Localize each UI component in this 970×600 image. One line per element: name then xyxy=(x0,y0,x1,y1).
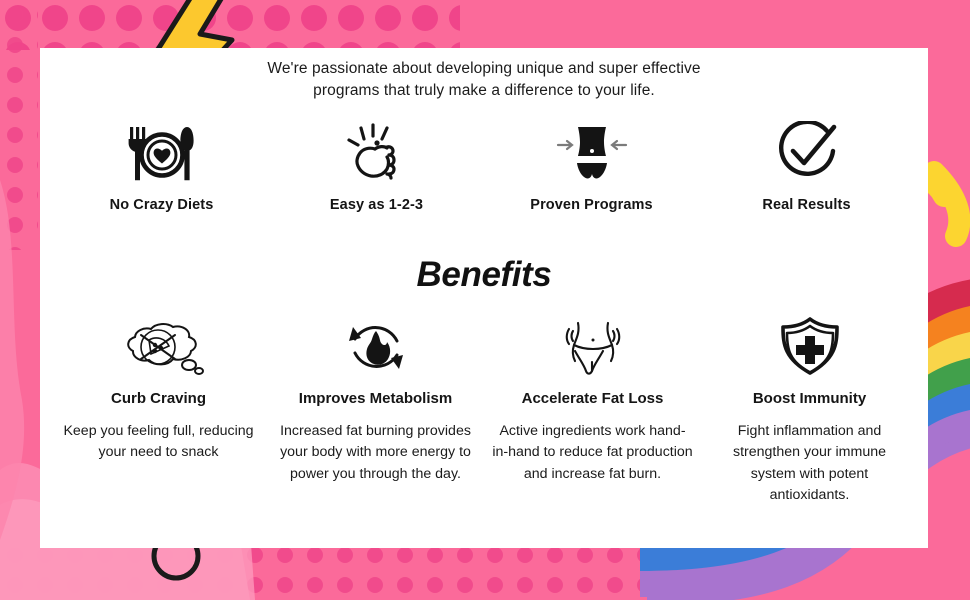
check-circle-icon xyxy=(699,121,914,183)
feature-label: Real Results xyxy=(699,197,914,213)
benefit-label: Improves Metabolism xyxy=(275,390,476,407)
feature-item-proven-programs: Proven Programs xyxy=(484,121,699,213)
feature-label: Easy as 1-2-3 xyxy=(269,197,484,213)
content-card: We're passionate about developing unique… xyxy=(40,48,928,548)
benefit-text: Active ingredients work hand-in-hand to … xyxy=(492,421,693,485)
benefit-label: Curb Craving xyxy=(58,390,259,407)
feature-label: No Crazy Diets xyxy=(54,197,269,213)
benefit-item-accelerate-fat-loss: Accelerate Fat Loss Active ingredients w… xyxy=(484,317,701,506)
benefit-item-boost-immunity: Boost Immunity Fight inflammation and st… xyxy=(701,317,918,506)
shield-medical-cross-icon xyxy=(709,317,910,377)
headline-line-2: programs that truly make a difference to… xyxy=(118,80,850,102)
benefit-text: Keep you feeling full, reducing your nee… xyxy=(58,421,259,464)
thought-bubble-no-junk-food-icon xyxy=(58,317,259,377)
flame-recycle-metabolism-icon xyxy=(275,317,476,377)
feature-item-no-crazy-diets: No Crazy Diets xyxy=(54,121,269,213)
snapping-fingers-icon xyxy=(269,121,484,183)
feature-label: Proven Programs xyxy=(484,197,699,213)
benefits-title: Benefits xyxy=(40,255,928,295)
feature-item-easy-as-123: Easy as 1-2-3 xyxy=(269,121,484,213)
benefit-text: Fight inflammation and strengthen your i… xyxy=(709,421,910,506)
benefit-item-curb-craving: Curb Craving Keep you feeling full, redu… xyxy=(50,317,267,506)
feature-row: No Crazy Diets xyxy=(40,121,928,213)
headline-line-1: We're passionate about developing unique… xyxy=(118,58,850,80)
headline: We're passionate about developing unique… xyxy=(118,58,850,103)
benefit-label: Accelerate Fat Loss xyxy=(492,390,693,407)
feature-item-real-results: Real Results xyxy=(699,121,914,213)
plate-heart-cutlery-icon xyxy=(54,121,269,183)
benefits-row: Curb Craving Keep you feeling full, redu… xyxy=(40,317,928,506)
slim-body-waist-icon xyxy=(492,317,693,377)
waist-slimming-icon xyxy=(484,121,699,183)
benefit-item-improves-metabolism: Improves Metabolism Increased fat burnin… xyxy=(267,317,484,506)
benefit-label: Boost Immunity xyxy=(709,390,910,407)
benefit-text: Increased fat burning provides your body… xyxy=(275,421,476,485)
